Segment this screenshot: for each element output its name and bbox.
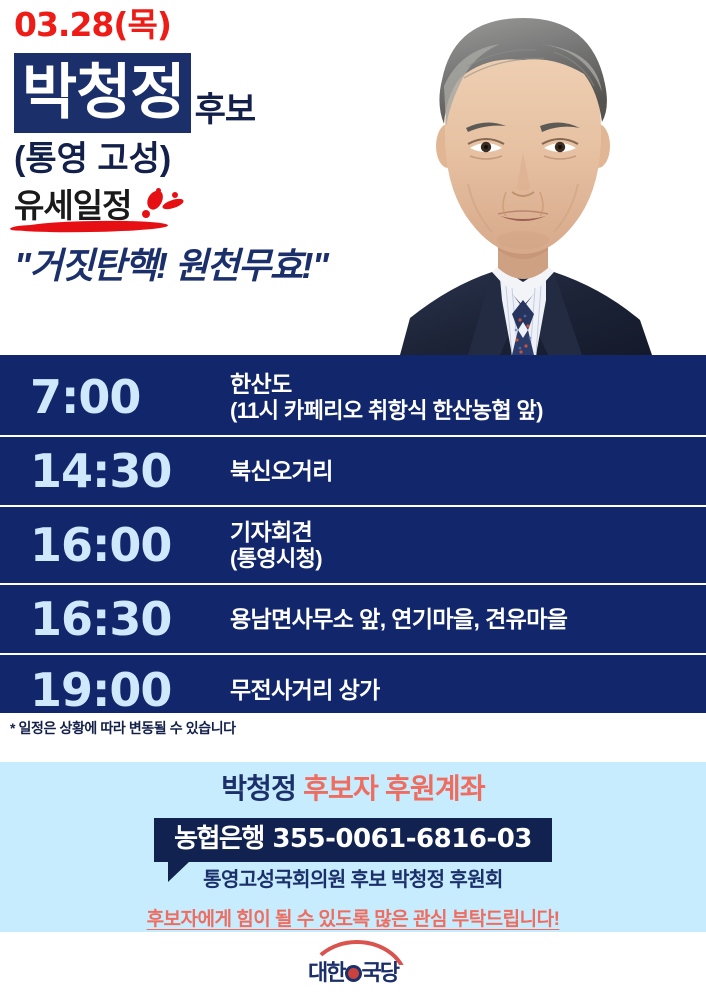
schedule-row: 7:00 한산도 (11시 카페리오 취항식 한산농협 앞) (0, 359, 706, 437)
schedule-place-main: 무전사거리 상가 (230, 677, 380, 703)
red-splash-icon (161, 197, 184, 211)
red-splash-icon (172, 192, 178, 198)
schedule-place-sub: (11시 카페리오 취항식 한산농협 앞) (230, 398, 692, 425)
donation-committee: 통영고성국회의원 후보 박청정 후원회 (0, 868, 706, 892)
schedule-title-wrap: 유세일정 (14, 188, 165, 224)
donation-section: 박청정 후보자 후원계좌 농협은행 355-0061-6816-03 통영고성국… (0, 762, 706, 932)
header-text-block: 03.28(목) 박청정 후보 (통영 고성) 유세일정 "거짓탄핵! 원천무효… (14, 8, 414, 286)
party-name: 대한국당 (278, 962, 428, 984)
schedule-place: 한산도 (11시 카페리오 취항식 한산농협 앞) (230, 370, 692, 425)
schedule-place-main: 기자회견 (230, 519, 312, 545)
schedule-place-main: 용남면사무소 앞, 연기마을, 견유마을 (230, 606, 567, 632)
campaign-poster: 03.28(목) 박청정 후보 (통영 고성) 유세일정 "거짓탄핵! 원천무효… (0, 0, 706, 1000)
schedule-place: 북신오거리 (230, 457, 692, 485)
red-splash-icon (156, 188, 161, 193)
schedule-row: 16:00 기자회견 (통영시청) (0, 507, 706, 585)
schedule-time: 19:00 (30, 667, 230, 713)
campaign-slogan: "거짓탄핵! 원천무효!" (14, 246, 414, 286)
schedule-place-main: 북신오거리 (230, 458, 333, 484)
schedule-place: 무전사거리 상가 (230, 676, 692, 704)
schedule-row: 14:30 북신오거리 (0, 437, 706, 507)
candidate-name-row: 박청정 후보 (14, 49, 414, 133)
schedule-time: 14:30 (30, 448, 230, 494)
red-splash-icon (142, 210, 150, 218)
schedule-place-sub: (통영시청) (230, 546, 692, 573)
party-logo: 대한국당 (278, 932, 428, 984)
district-label: (통영 고성) (14, 141, 414, 178)
party-name-part2: 국당 (362, 960, 398, 985)
account-number: 355-0061-6816-03 (272, 824, 532, 854)
schedule-disclaimer-note: * 일정은 상황에 따라 변동될 수 있습니다 (10, 718, 236, 738)
bank-name: 농협은행 (174, 824, 264, 854)
donation-title: 박청정 후보자 후원계좌 (0, 762, 706, 806)
schedule-table: 7:00 한산도 (11시 카페리오 취항식 한산농협 앞) 14:30 북신오… (0, 355, 706, 713)
schedule-time: 16:00 (30, 522, 230, 568)
schedule-place-main: 한산도 (230, 371, 292, 397)
schedule-time: 7:00 (30, 374, 230, 420)
poster-header: 03.28(목) 박청정 후보 (통영 고성) 유세일정 "거짓탄핵! 원천무효… (0, 0, 706, 355)
schedule-row: 19:00 무전사거리 상가 (0, 655, 706, 725)
donation-appeal: 후보자에게 힘이 될 수 있도록 많은 관심 부탁드립니다! (147, 904, 560, 931)
account-bubble: 농협은행 355-0061-6816-03 (154, 818, 552, 863)
schedule-time: 16:30 (30, 596, 230, 642)
schedule-row: 16:30 용남면사무소 앞, 연기마을, 견유마을 (0, 585, 706, 655)
schedule-place: 기자회견 (통영시청) (230, 518, 692, 573)
donation-title-rest: 후보자 후원계좌 (303, 773, 485, 804)
account-box: 농협은행 355-0061-6816-03 (154, 818, 552, 863)
campaign-date: 03.28(목) (14, 8, 414, 43)
party-logo-section: 대한국당 (0, 932, 706, 1000)
speech-bubble-tail-icon (168, 861, 190, 882)
party-name-part1: 대한 (308, 960, 344, 985)
taeguk-circle-icon (345, 965, 362, 982)
schedule-place: 용남면사무소 앞, 연기마을, 견유마을 (230, 605, 692, 633)
schedule-title: 유세일정 (14, 188, 131, 224)
donation-title-name: 박청정 (221, 773, 296, 804)
candidate-name-suffix: 후보 (191, 93, 256, 133)
candidate-name: 박청정 (14, 53, 191, 133)
